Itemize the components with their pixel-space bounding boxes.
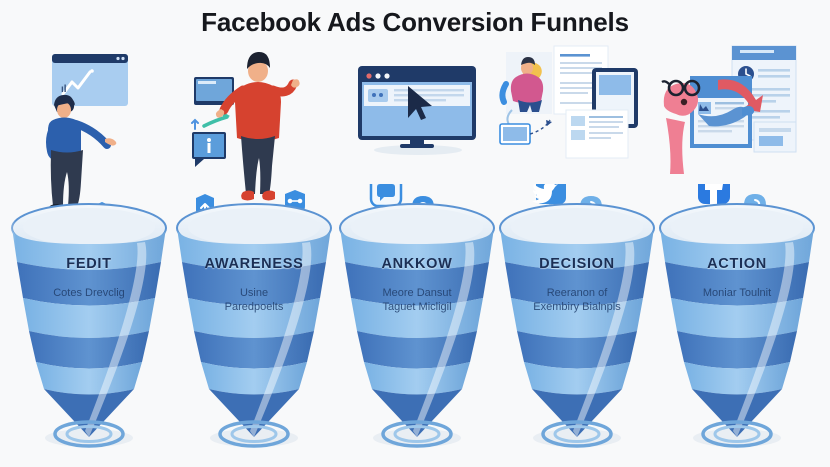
funnel-column-5[interactable]: ACTION Moniar Toulnit [654,44,820,464]
funnel-graphic-3 [334,202,500,452]
funnel-graphic-1 [6,202,172,452]
funnel-column-2[interactable]: AWARENESS Usine Paredpoelts [171,44,337,464]
page-title: Facebook Ads Conversion Funnels [0,6,830,38]
funnel-column-3[interactable]: ANKKOW Meore Dansut Taguet Micligil [334,44,500,464]
funnel-graphic-2 [171,202,337,452]
funnel-column-1[interactable]: ıl [6,44,172,464]
svg-text:ıl: ıl [61,84,67,95]
funnel-graphic-4 [494,202,660,452]
infographic-canvas: Facebook Ads Conversion Funnels ıl [0,0,830,467]
funnel-column-4[interactable]: DECISION Reeranon of Exembiry Bialnpls [494,44,660,464]
funnel-graphic-5 [654,202,820,452]
